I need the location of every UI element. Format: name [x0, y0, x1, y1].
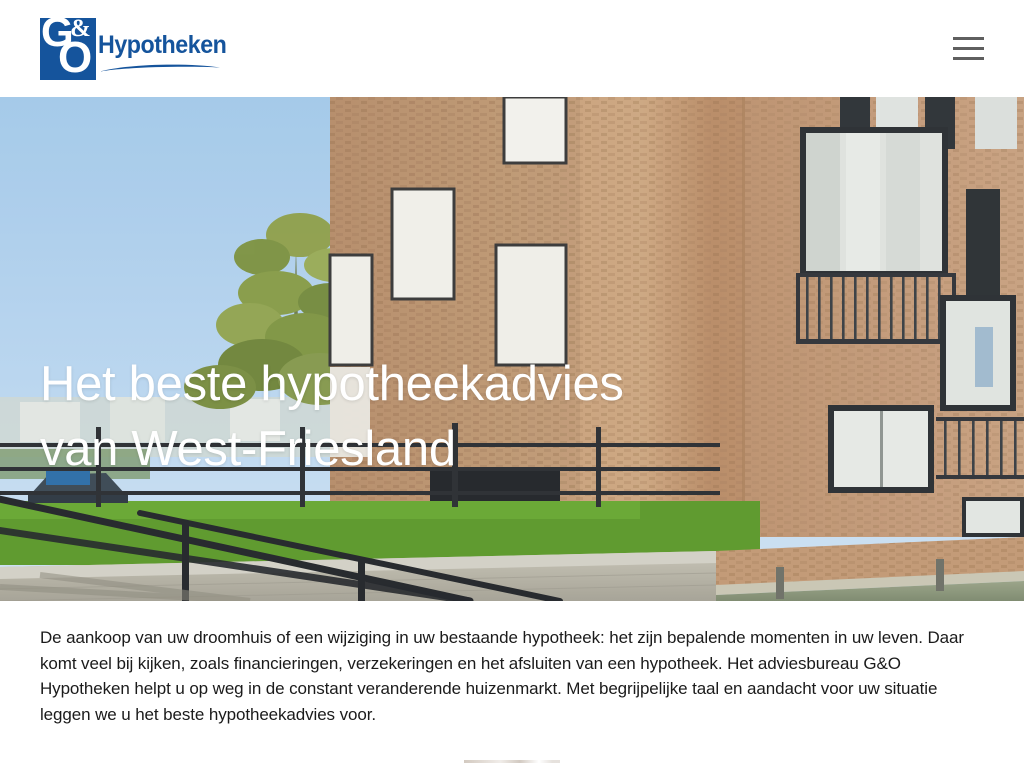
next-section-sliver [464, 760, 560, 763]
logo-mark-box: G & O [40, 18, 96, 80]
hero-text-block: Het beste hypotheekadvies van West-Fries… [40, 352, 740, 482]
hamburger-bar-top [953, 37, 984, 40]
hamburger-bar-bottom [953, 57, 984, 60]
page-root: G & O Hypotheken [0, 0, 1024, 768]
site-header: G & O Hypotheken [0, 0, 1024, 97]
main-content: De aankoop van uw droomhuis of een wijzi… [0, 601, 1024, 727]
hero-heading: Het beste hypotheekadvies van West-Fries… [40, 352, 740, 482]
logo: G & O Hypotheken [40, 18, 220, 80]
hero-banner: Het beste hypotheekadvies van West-Fries… [0, 97, 1024, 601]
intro-paragraph: De aankoop van uw droomhuis of een wijzi… [40, 625, 984, 727]
hero-background-image [0, 97, 1024, 601]
logo-letter-o: O [58, 36, 92, 80]
logo-swoosh-icon [100, 62, 220, 74]
below-fold-area [0, 727, 1024, 763]
logo-wordmark: Hypotheken [98, 32, 226, 58]
menu-toggle-button[interactable] [944, 34, 984, 64]
hamburger-bar-middle [953, 47, 984, 50]
logo-link[interactable]: G & O Hypotheken [40, 18, 220, 80]
